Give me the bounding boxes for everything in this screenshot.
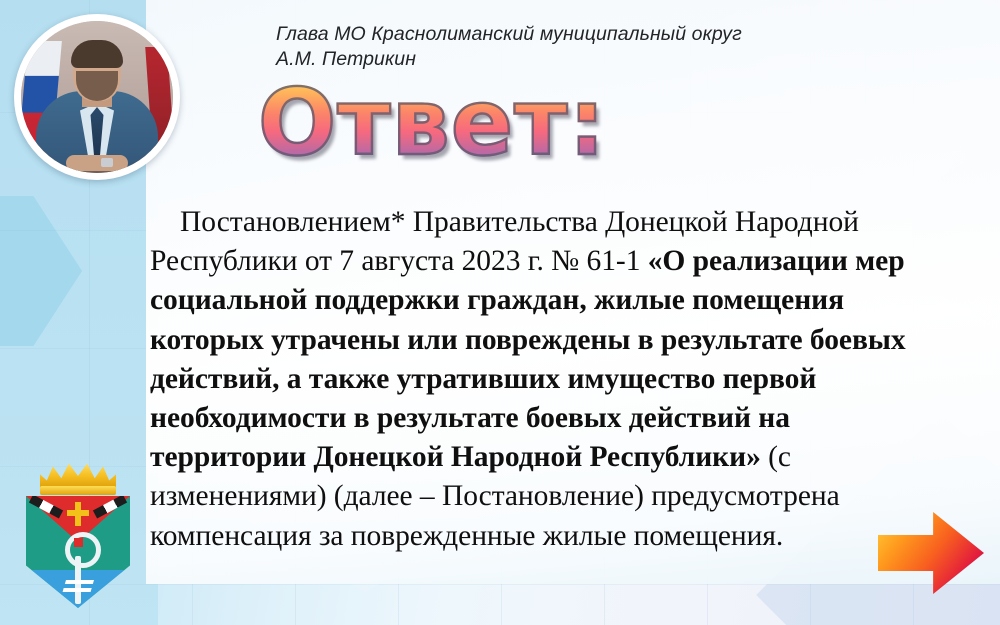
photo-hair — [71, 40, 123, 68]
photo-wristwatch — [101, 158, 113, 167]
portrait-photo — [21, 21, 173, 173]
body-segment-bold: «О реализации мер социальной поддержки г… — [150, 245, 906, 473]
header-line-position: Глава МО Краснолиманский муниципальный о… — [276, 22, 896, 47]
key-icon-bit — [74, 538, 83, 547]
key-icon-ring — [65, 532, 101, 568]
slide-title-text: Ответ: — [258, 70, 606, 176]
wave-lines-icon — [61, 578, 94, 596]
header-official-name: Глава МО Краснолиманский муниципальный о… — [276, 22, 896, 72]
cross-icon-horizontal — [67, 510, 89, 516]
avatar — [14, 14, 180, 180]
coat-of-arms-icon — [18, 462, 138, 617]
slide-title: Ответ: Ответ: — [258, 70, 688, 176]
crown-band — [40, 486, 116, 495]
shield-icon — [26, 496, 130, 608]
photo-hands — [66, 155, 128, 171]
slide-root: Глава МО Краснолиманский муниципальный о… — [0, 0, 1000, 625]
body-paragraph: Постановлением* Правительства Донецкой Н… — [150, 203, 950, 556]
